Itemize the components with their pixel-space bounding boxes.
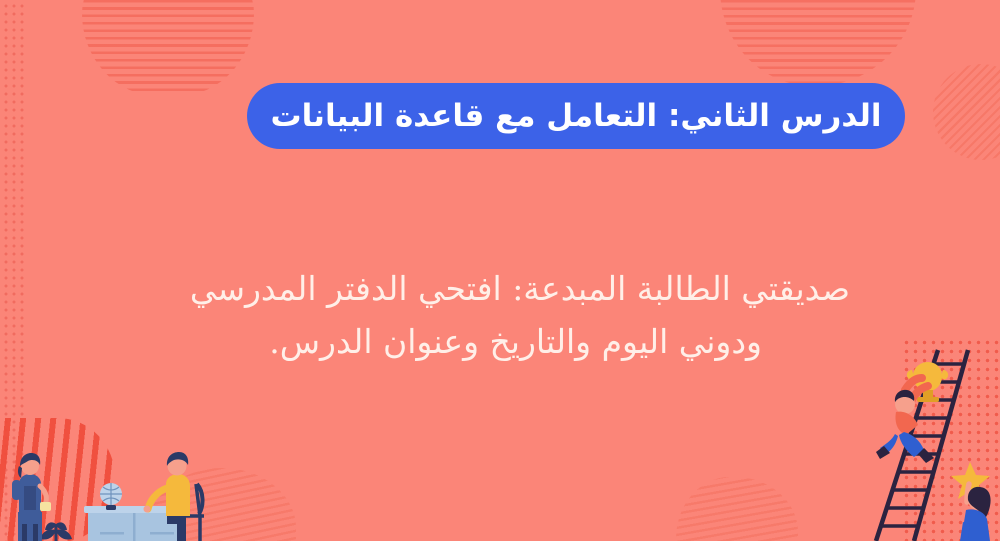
climbing-person-figure <box>876 362 948 463</box>
person-climbing-ladder-illustration <box>850 336 1000 541</box>
globe-icon <box>100 483 122 510</box>
standing-student-figure <box>12 453 51 541</box>
plant-icon <box>40 522 72 541</box>
students-at-desk-illustration <box>0 406 230 541</box>
woman-with-star-figure <box>951 462 991 541</box>
slide-canvas: الدرس الثاني: التعامل مع قاعدة البيانات … <box>0 0 1000 541</box>
instruction-line-2: ودوني اليوم والتاريخ وعنوان الدرس. <box>160 315 850 368</box>
lesson-title-banner: الدرس الثاني: التعامل مع قاعدة البيانات <box>247 83 905 149</box>
page-title: الدرس الثاني: التعامل مع قاعدة البيانات <box>271 101 882 132</box>
striped-circle-top-right-icon <box>933 64 1000 160</box>
striped-blob-top-middle-icon <box>720 0 916 86</box>
instruction-line-1: صديقتي الطالبة المبدعة: افتحي الدفتر الم… <box>160 262 850 315</box>
lesson-instruction-text: صديقتي الطالبة المبدعة: افتحي الدفتر الم… <box>160 262 850 369</box>
striped-blob-bottom-right-icon <box>676 477 798 541</box>
striped-blob-top-left-icon <box>82 0 254 96</box>
